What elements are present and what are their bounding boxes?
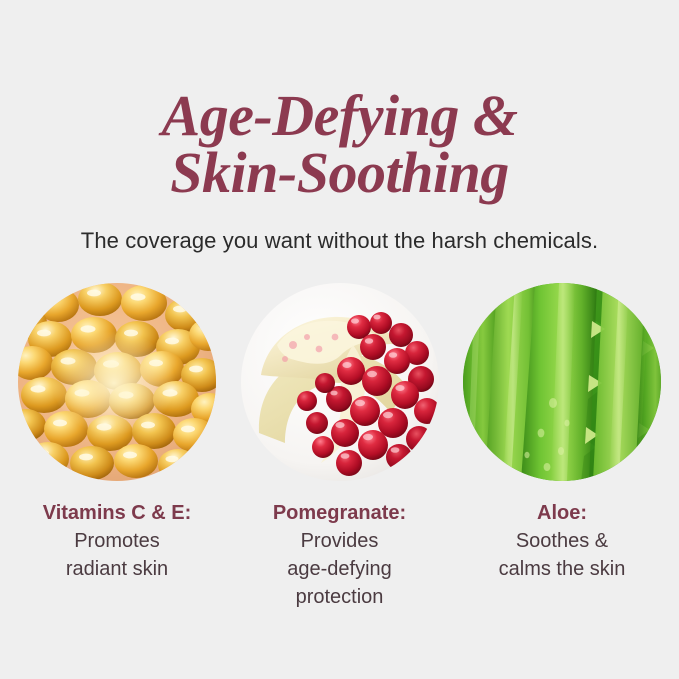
ingredient-column-aloe: Aloe: Soothes & calms the skin bbox=[463, 283, 661, 611]
headline-line-1: Age-Defying & bbox=[0, 87, 679, 144]
ingredient-columns: Vitamins C & E: Promotes radiant skin bbox=[0, 283, 679, 611]
caption-body: Soothes & calms the skin bbox=[499, 527, 626, 583]
aloe-vera-photo bbox=[463, 283, 661, 481]
caption-title: Pomegranate: bbox=[273, 499, 406, 527]
subtitle: The coverage you want without the harsh … bbox=[0, 228, 679, 254]
caption-vitamins: Vitamins C & E: Promotes radiant skin bbox=[43, 499, 192, 583]
caption-aloe: Aloe: Soothes & calms the skin bbox=[499, 499, 626, 583]
headline-line-2: Skin-Soothing bbox=[0, 144, 679, 201]
caption-pomegranate: Pomegranate: Provides age-defying protec… bbox=[273, 499, 406, 611]
page-title: Age-Defying & Skin-Soothing bbox=[0, 87, 679, 201]
caption-body: Provides age-defying protection bbox=[273, 527, 406, 611]
caption-body-line: calms the skin bbox=[499, 555, 626, 583]
ingredient-column-pomegranate: Pomegranate: Provides age-defying protec… bbox=[241, 283, 439, 611]
caption-body-line: protection bbox=[273, 583, 406, 611]
caption-title: Vitamins C & E: bbox=[43, 499, 192, 527]
promo-graphic: Age-Defying & Skin-Soothing The coverage… bbox=[0, 0, 679, 679]
vitamin-gel-capsules-photo bbox=[18, 283, 216, 481]
caption-body: Promotes radiant skin bbox=[43, 527, 192, 583]
ingredient-column-vitamins: Vitamins C & E: Promotes radiant skin bbox=[18, 283, 216, 611]
caption-body-line: age-defying bbox=[273, 555, 406, 583]
caption-body-line: Promotes bbox=[43, 527, 192, 555]
caption-body-line: Provides bbox=[273, 527, 406, 555]
caption-title: Aloe: bbox=[499, 499, 626, 527]
caption-body-line: Soothes & bbox=[499, 527, 626, 555]
pomegranate-photo bbox=[241, 283, 439, 481]
caption-body-line: radiant skin bbox=[43, 555, 192, 583]
